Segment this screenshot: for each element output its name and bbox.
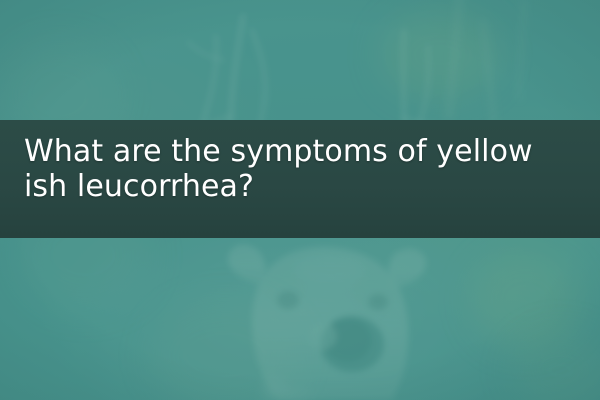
caption-banner: What are the symptoms of yellow ish leuc… [0, 120, 600, 238]
screenshot-root: What are the symptoms of yellow ish leuc… [0, 0, 600, 400]
caption-text: What are the symptoms of yellow ish leuc… [24, 134, 584, 204]
